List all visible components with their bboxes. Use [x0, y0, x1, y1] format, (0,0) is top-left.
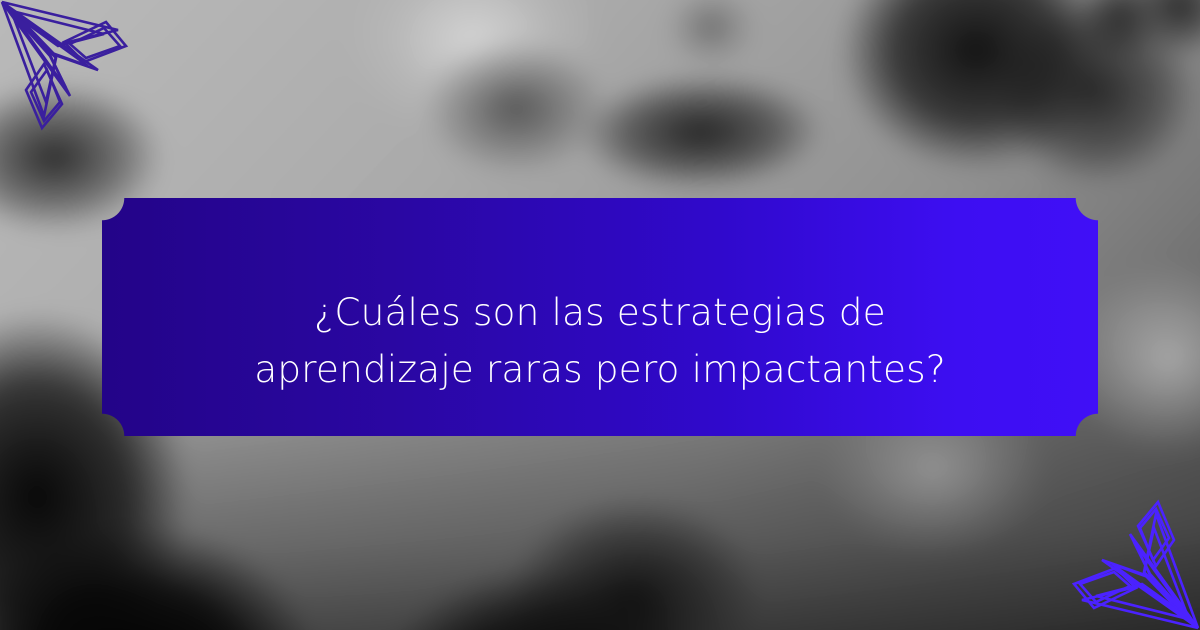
headline-banner: ¿Cuáles son las estrategias de aprendiza… [102, 198, 1098, 436]
headline-text: ¿Cuáles son las estrategias de aprendiza… [230, 284, 970, 398]
poster-canvas: ¿Cuáles son las estrategias de aprendiza… [0, 0, 1200, 630]
